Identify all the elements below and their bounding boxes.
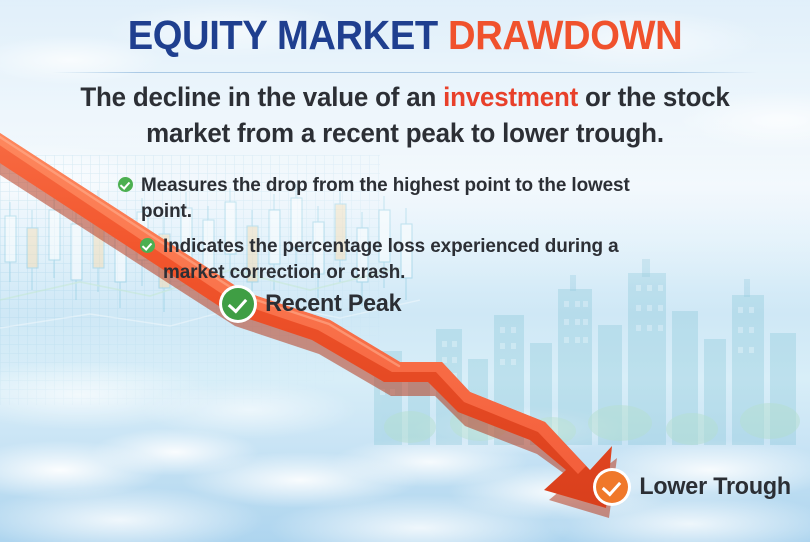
bullet-1-text: Measures the drop from the highest point… — [141, 174, 630, 222]
check-circle-icon — [118, 177, 133, 192]
bullet-2-bold: percentage loss — [283, 235, 426, 257]
check-circle-icon — [140, 238, 155, 253]
callout-label-recent-peak: Recent Peak — [265, 290, 401, 318]
title-divider — [52, 72, 758, 73]
list-item: Indicates the percentage loss experience… — [140, 233, 688, 286]
callout-lower-trough: Lower Trough — [596, 471, 793, 503]
callout-recent-peak: Recent Peak — [222, 288, 404, 320]
bullet-2-pre: Indicates the — [163, 235, 283, 257]
page-title: EQUITY MARKET DRAWDOWN — [28, 14, 781, 57]
title-primary: EQUITY MARKET — [128, 12, 438, 58]
title-accent: DRAWDOWN — [448, 12, 682, 58]
bullet-text: Indicates the percentage loss experience… — [163, 233, 672, 286]
bullet-text: Measures the drop from the highest point… — [141, 172, 672, 225]
list-item: Measures the drop from the highest point… — [118, 172, 688, 225]
subtitle-line2: market from a recent peak to lower troug… — [146, 118, 664, 148]
bullet-list: Measures the drop from the highest point… — [118, 172, 688, 285]
check-circle-icon — [596, 471, 628, 503]
subtitle: The decline in the value of an investmen… — [62, 80, 747, 151]
infographic-canvas: EQUITY MARKET DRAWDOWN The decline in th… — [0, 0, 810, 542]
callout-label-lower-trough: Lower Trough — [639, 473, 791, 501]
subtitle-line1-post: or the stock — [578, 82, 730, 112]
subtitle-accent-word: investment — [443, 82, 578, 112]
check-circle-icon — [222, 288, 254, 320]
subtitle-line1-pre: The decline in the value of an — [80, 82, 443, 112]
